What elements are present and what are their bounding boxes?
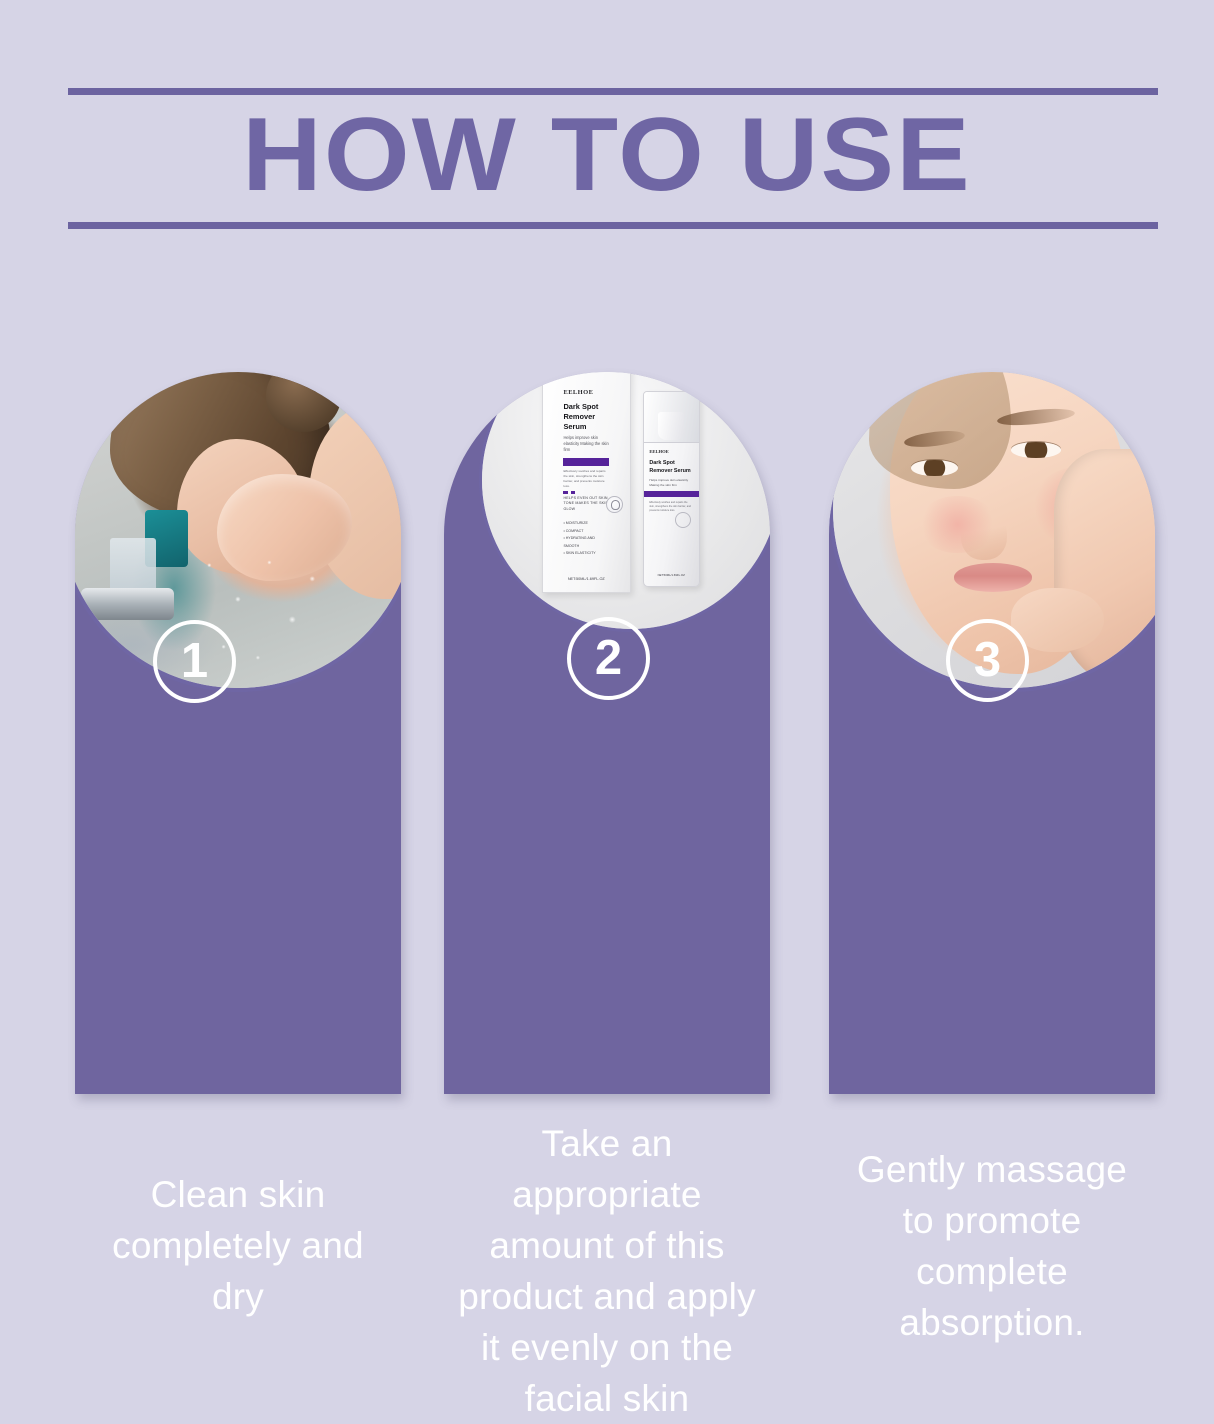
eye-left-shape	[911, 460, 957, 476]
step-2-image-medallion: EELHOE Dark Spot Remover Serum Helps imp…	[479, 372, 770, 632]
step-card-2: EELHOE Dark Spot Remover Serum Helps imp…	[444, 372, 770, 1094]
step-1-image-medallion	[75, 372, 401, 692]
eye-right-shape	[1011, 442, 1061, 458]
product-box-net-weight: NET:50ML/1.69FL.OZ	[543, 577, 630, 581]
bottle-brand: EELHOE	[649, 449, 693, 454]
bottle-accent-band	[644, 491, 699, 497]
bottle-body: Effectively soothes and repairs the skin…	[649, 501, 693, 513]
product-box-title: Dark Spot Remover Serum	[563, 402, 609, 432]
product-box-subtitle: Helps improve skin elasticity Making the…	[563, 435, 609, 453]
step-3-caption: Gently massage to promote complete absor…	[842, 1144, 1142, 1348]
bottle-seal-icon	[675, 512, 691, 528]
step-2-clip: EELHOE Dark Spot Remover Serum Helps imp…	[444, 372, 770, 1094]
product-box-brand: EELHOE	[563, 389, 609, 396]
step-3-clip	[829, 372, 1155, 1094]
product-bottle: EELHOE Dark Spot Remover Serum Helps imp…	[643, 391, 700, 588]
step-3-number-badge: 3	[946, 619, 1029, 702]
step-card-1: Clean skin completely and dry	[75, 372, 401, 1094]
bottle-title: Dark Spot Remover Serum	[649, 460, 693, 475]
hair-bun-shape	[266, 372, 341, 432]
step-1-number-badge: 1	[153, 620, 236, 703]
lips-shape	[954, 563, 1032, 591]
nose-shape	[961, 510, 1007, 560]
step-2-caption: Take an appropriate amount of this produ…	[457, 1118, 757, 1424]
steps-row: Clean skin completely and dry 1 EELHOE D…	[0, 0, 1214, 1214]
step-card-3: Gently massage to promote complete absor…	[829, 372, 1155, 1094]
bottle-net-weight: NET:50ML/1.69FL.OZ	[644, 573, 699, 577]
bottle-pump-cap	[644, 392, 699, 444]
bottle-subtitle: Helps improve skin elasticity Making the…	[649, 478, 693, 487]
product-box-bullets: • MOISTURIZE • COMPACT • HYDRATING AND S…	[563, 520, 609, 558]
step-1-clip	[75, 372, 401, 1094]
faucet-shape	[81, 588, 174, 620]
product-box: EELHOE Dark Spot Remover Serum Helps imp…	[542, 372, 631, 593]
step-2-number-badge: 2	[567, 617, 650, 700]
woman-washing-face-photo	[75, 372, 401, 688]
product-box-body: Effectively soothes and repairs the skin…	[563, 469, 609, 489]
serum-product-photo: EELHOE Dark Spot Remover Serum Helps imp…	[482, 372, 770, 629]
quality-seal-icon	[606, 496, 623, 513]
product-box-claim: HELPS EVEN OUT SKIN TONE MAKES THE SKIN …	[563, 496, 609, 513]
product-box-accent-band	[563, 458, 609, 466]
step-1-caption: Clean skin completely and dry	[88, 1169, 388, 1322]
product-box-dashes	[563, 491, 575, 494]
